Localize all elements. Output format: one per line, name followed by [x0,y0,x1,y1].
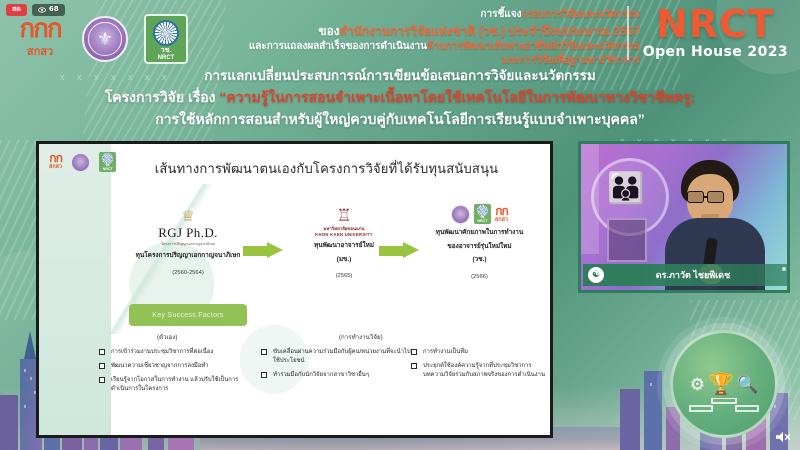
header-line-4-accent: และการวิจัยเพื่อฐานทางวิชาการ [502,55,640,66]
funding-node-2: ♖ มหาวิทยาลัยขอนแก่น KHON KAEN UNIVERSIT… [269,190,419,279]
funding-node-2-year: (2565) [269,273,419,279]
caption-research: (การทำงานวิจัย) [339,332,383,342]
checkbox-icon [99,349,105,355]
decor-hatch-3 [0,140,40,320]
header-line-2-accent: สำนักงานการวิจัยแห่งชาติ (วช.) ประจำปีงบ… [340,24,640,38]
speaker-mute-icon[interactable] [774,430,792,444]
nrct-logo-small-2-line2: NRCT [477,220,487,224]
slide-logo-group: กก สกสว วช. NRCT [49,152,116,172]
header-logo-group: กกก สกสว ⚜ วช. NRCT [14,14,188,64]
event-emblem-badge: ⚙ 🏆 🔍 [670,330,778,438]
banner-line-3: การใช้หลักการสอนสำหรับผู้ใหญ่ควบคู่กับเท… [0,109,800,131]
nrct-logo-line2: NRCT [158,55,175,61]
header-text-block: การชี้แจงกรอบการวิจัยและนวัตกรรม ของสำนั… [240,8,640,69]
glasses-left-icon [687,191,704,203]
list-item: การเข้าร่วมงานประชุมวิชาการที่ต่อเนื่อง [99,348,254,357]
list-item: พัฒนาความเชี่ยวชาญจากการลงมือทำ [99,362,254,371]
bullet-text: ทำร่วมมือกับนักวิจัยจากสาขาวิชาอื่นๆ [273,371,369,380]
skw-logo-caption: สกสว [14,42,66,60]
event-title-banner: การแลกเปลี่ยนประสบการณ์การเขียนข้อเสนอกา… [0,66,800,130]
kku-crest-icon: ♖ [336,207,351,224]
funding-node-1-year: (2560-2564) [113,270,263,276]
viewer-count-badge: 68 [32,4,65,16]
podium-icon [688,398,760,414]
viewer-count-value: 68 [49,6,59,14]
nrct-open-house-lockup: NRCT Open House 2023 [627,6,788,60]
funding-node-1: ♕ RGJ Ph.D. โครงการปริญญาเอกกาญจนาภิเษก … [113,190,263,276]
kku-emblem-subtitle: KHON KAEN UNIVERSITY [269,232,419,237]
glasses-bridge [704,196,707,198]
caption-self: (ตัวเอง) [157,332,177,342]
prince-emblem-small-2 [451,205,470,224]
funding-node-1-label: ทุนโครงการปริญญาเอกกาญจนาภิเษก [113,251,263,261]
rgj-emblem-subtitle: โครงการปริญญาเอกกาญจนาภิเษก [113,241,263,247]
header-line-3-accent: ด้านการพัฒนาเส้นทางอาชีพนักวิจัยและนวัตก… [427,41,640,52]
bullet-text: เรียนรู้จากโอกาสในการทำงาน แล้วปรับใช้เป… [111,376,254,394]
list-item: ทำร่วมมือกับนักวิจัยจากสาขาวิชาอื่นๆ [261,371,411,380]
header-line-1-accent: กรอบการวิจัยและนวัตกรรม [522,9,640,20]
bullet-text: พัฒนาความเชี่ยวชาญจากการลงมือทำ [111,362,209,371]
skw-logo: กกก สกสว [14,18,66,60]
emblem-glyph-group: ⚙ 🏆 🔍 [690,374,759,395]
skw-logo-small-2-mark: กก [495,206,508,216]
checkbox-icon [99,363,105,369]
funding-node-3-year: (2566) [407,274,552,280]
list-item: การทำงานเป็นทีม [411,348,551,357]
key-success-factors-button[interactable]: Key Success Factors [129,304,247,326]
checkbox-icon [411,349,417,355]
nrct-logo: วช. NRCT [144,14,188,64]
speaker-name-bar: ☯ ดร.ภาวัต ไชยพิเดช [583,264,789,286]
nrct-brand-subtitle: Open House 2023 [643,44,788,60]
nrct-brand-title: NRCT [643,6,788,42]
bullet-text: ขับเคลื่อนผ่านความร่วมมือกับผู้คน/หน่วยง… [273,348,411,366]
speaker-name: ดร.ภาวัต ไชยพิเดช [605,268,789,282]
bullet-column-1: การเข้าร่วมงานประชุมวิชาการที่ต่อเนื่อง … [99,348,254,400]
nrct-skw-emblems: วช. NRCT กก สกสว [407,190,552,224]
funding-node-3: วช. NRCT กก สกสว ทุนพัฒนาศักยภาพในการทำง… [407,190,552,280]
trophy-person-icon: 🏆 [708,374,734,395]
eye-icon [38,6,46,14]
header-line-3: และการแถลงผลสำเร็จของการดำเนินงานด้านการ… [240,40,640,55]
gear-icon: ⚙ [690,376,705,393]
bullet-text: การทำงานเป็นทีม [423,348,468,357]
checkbox-icon [99,377,105,383]
nrct-logo-line1: วช. [161,47,172,54]
skw-logo-small-2: กก สกสว [495,206,508,224]
stream-badges: สด 68 [6,4,65,16]
kku-emblem-title: มหาวิทยาลัยขอนแก่น [269,225,419,232]
glasses-right-icon [707,191,724,203]
checkbox-icon [411,363,417,369]
header-line-2-plain: ของ [318,24,339,38]
banner-line-3-quote: การใช้หลักการสอนสำหรับผู้ใหญ่ควบคู่กับเท… [155,111,645,127]
rgj-emblem: ♕ [113,190,263,224]
header-line-2: ของสำนักงานการวิจัยแห่งชาติ (วช.) ประจำป… [240,23,640,40]
skw-logo-small: กก สกสว [49,153,62,171]
funding-timeline-diagram: ♕ RGJ Ph.D. โครงการปริญญาเอกกาญจนาภิเษก … [111,190,544,310]
slide-title: เส้นทางการพัฒนาตนเองกับโครงการวิจัยที่ได… [111,158,542,179]
decor-people-icon: 👪 [607,174,644,204]
list-item: ขับเคลื่อนผ่านความร่วมมือกับผู้คน/หน่วยง… [261,348,411,366]
skw-logo-small-2-caption: สกสว [495,216,508,224]
header-line-1-plain: การชี้แจง [481,9,522,20]
nrct-logo-small-2: วช. NRCT [474,204,491,224]
bullet-text: การเข้าร่วมงานประชุมวิชาการที่ต่อเนื่อง [111,348,213,357]
checkbox-icon [261,372,267,378]
funding-node-3-label2: ของอาจารย์รุ่นใหม่ใหม่ [407,242,552,252]
bullet-column-2: ขับเคลื่อนผ่านความร่วมมือกับผู้คน/หน่วยง… [261,348,411,385]
banner-line-1: การแลกเปลี่ยนประสบการณ์การเขียนข้อเสนอกา… [0,66,800,87]
prince-emblem-glyph: ⚜ [88,22,122,56]
header-line-3-plain: และการแถลงผลสำเร็จของการดำเนินงาน [249,41,427,52]
bullet-column-3: การทำงานเป็นทีม ประยุกต์ใช้องค์ความรู้จา… [411,348,551,385]
prince-emblem-small [71,153,90,172]
crown-icon: ♕ [181,209,194,224]
funding-node-3-label3: (วช.) [407,255,552,265]
skw-logo-mark: กกก [14,18,66,41]
nrct-seal-icon: ☯ [587,266,605,284]
banner-line-2: โครงการวิจัย เรื่อง “ความรู้ในการสอนจำเพ… [0,87,800,109]
live-badge: สด [6,4,27,16]
decor-frame [607,218,647,262]
namebar-dot [782,267,786,271]
document-search-icon: 🔍 [737,376,758,393]
header-line-1: การชี้แจงกรอบการวิจัยและนวัตกรรม [240,8,640,23]
skw-logo-small-mark: กก [49,153,62,163]
stream-screen: สด 68 กกก สกสว ⚜ วช. NRCT การชี้แจงกรอบก… [0,0,800,450]
speaker-video-panel[interactable]: 👪 ☯ ดร.ภาวัต ไชยพิเดช [578,141,790,293]
kku-emblem: ♖ [269,190,419,224]
skw-logo-small-caption: สกสว [49,163,62,171]
funding-node-3-label: ทุนพัฒนาศักยภาพในการทำงาน [407,228,552,238]
banner-line-2-quote: “ความรู้ในการสอนจำเพาะเนื้อหาโดยใช้เทคโน… [219,89,695,105]
presentation-slide[interactable]: กก สกสว วช. NRCT เส้นทางการพัฒนาตนเองกับ… [36,141,553,438]
nrct-wheel-icon [153,20,179,46]
banner-line-2-prefix: โครงการวิจัย เรื่อง [105,89,220,105]
prince-emblem-logo: ⚜ [82,16,128,62]
bullet-text: ประยุกต์ใช้องค์ความรู้จากที่ประชุมวิชากา… [423,362,551,380]
checkbox-icon [261,349,267,355]
list-item: เรียนรู้จากโอกาสในการทำงาน แล้วปรับใช้เป… [99,376,254,394]
list-item: ประยุกต์ใช้องค์ความรู้จากที่ประชุมวิชากา… [411,362,551,380]
rgj-emblem-title: RGJ Ph.D. [113,225,263,241]
